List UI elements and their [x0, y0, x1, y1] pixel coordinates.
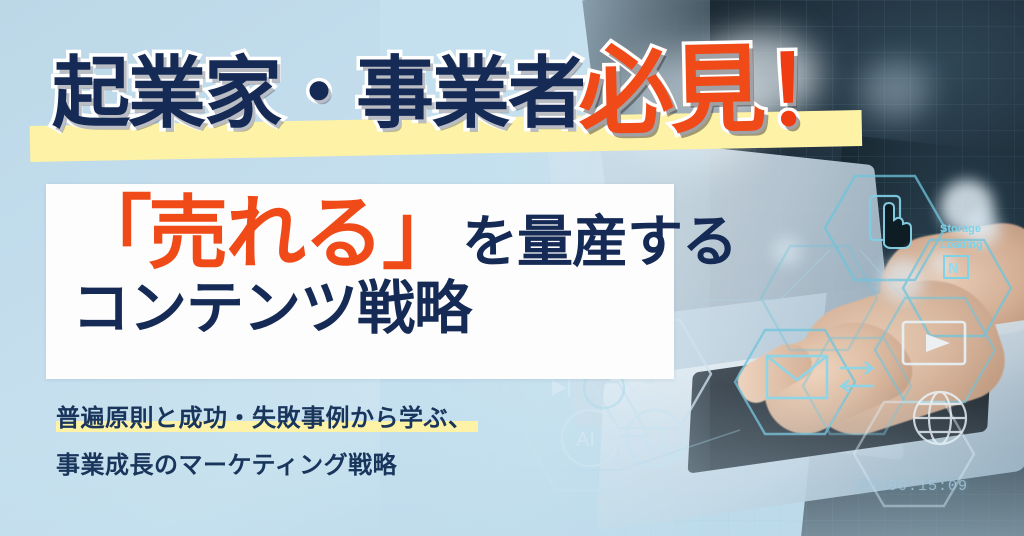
title-line-2: コンテンツ戦略: [72, 280, 674, 338]
bokeh-1: [940, 180, 994, 234]
node-badge-icon: N: [944, 256, 968, 278]
headline-exclamation: ！: [763, 45, 861, 138]
shuffle-arrows-icon: [840, 362, 874, 392]
promo-banner: Storage Loading N: [0, 0, 1024, 536]
play-button-icon: [903, 322, 965, 364]
quote-open: 「: [72, 198, 148, 270]
hexagon-shuffle: [803, 338, 911, 434]
hand-upper: [872, 216, 1024, 354]
tech-dark-panel-secondary: [798, 134, 1024, 536]
storage-label: Storage: [940, 223, 981, 235]
quote-close: 」: [382, 198, 458, 270]
bokeh-2: [966, 212, 1000, 246]
at-sign-icon: [627, 410, 684, 466]
title-line-1-rest: を量産する: [462, 217, 737, 267]
title-accent-word: 売れる: [148, 198, 382, 270]
bokeh-5: [772, 236, 802, 266]
bokeh-8: [860, 60, 930, 120]
cursor-tap-icon: [870, 196, 911, 248]
hexagon-play: [875, 298, 995, 402]
subtitle-line-1: 普遍原則と成功・失敗事例から学ぶ、: [56, 405, 473, 432]
envelope-icon: [767, 356, 827, 398]
svg-text:N: N: [948, 260, 959, 277]
skip-next-icon: [552, 379, 569, 397]
laptop-keyboard: [688, 330, 993, 473]
headline: 起業家・事業者 必見 ！: [52, 46, 860, 131]
svg-text:AI: AI: [576, 429, 595, 451]
subtitle-row-1: 普遍原則と成功・失敗事例から学ぶ、: [56, 398, 576, 433]
title-line-1: 「 売れる 」 を量産する: [72, 198, 674, 270]
headline-accent-text: 必見: [577, 44, 763, 139]
finger-tip: [730, 335, 818, 409]
hexagon-at: [761, 246, 877, 350]
hexagon-cursor: [825, 176, 945, 280]
hand-left: [748, 303, 922, 446]
headline-dark-text: 起業家・事業者: [52, 55, 584, 131]
globe-icon: [914, 392, 966, 444]
hexagon-globe: [854, 402, 974, 506]
subtitle-line-2: 事業成長のマーケティング戦略: [56, 452, 397, 479]
subtitle-row-2: 事業成長のマーケティング戦略: [56, 445, 576, 480]
subtitle-block: 普遍原則と成功・失敗事例から学ぶ、 事業成長のマーケティング戦略: [56, 398, 576, 492]
hexagon-mail: [735, 330, 855, 434]
bokeh-4: [928, 250, 954, 276]
timecode-overlay: 00:00:15:09: [858, 478, 968, 495]
hexagon-node: [903, 240, 1011, 336]
hand-right: [785, 262, 1015, 447]
title-card: 「 売れる 」 を量産する コンテンツ戦略: [46, 184, 674, 379]
rewind-icon: [452, 382, 478, 394]
loading-label: Loading: [940, 239, 983, 251]
bokeh-3: [880, 258, 924, 302]
